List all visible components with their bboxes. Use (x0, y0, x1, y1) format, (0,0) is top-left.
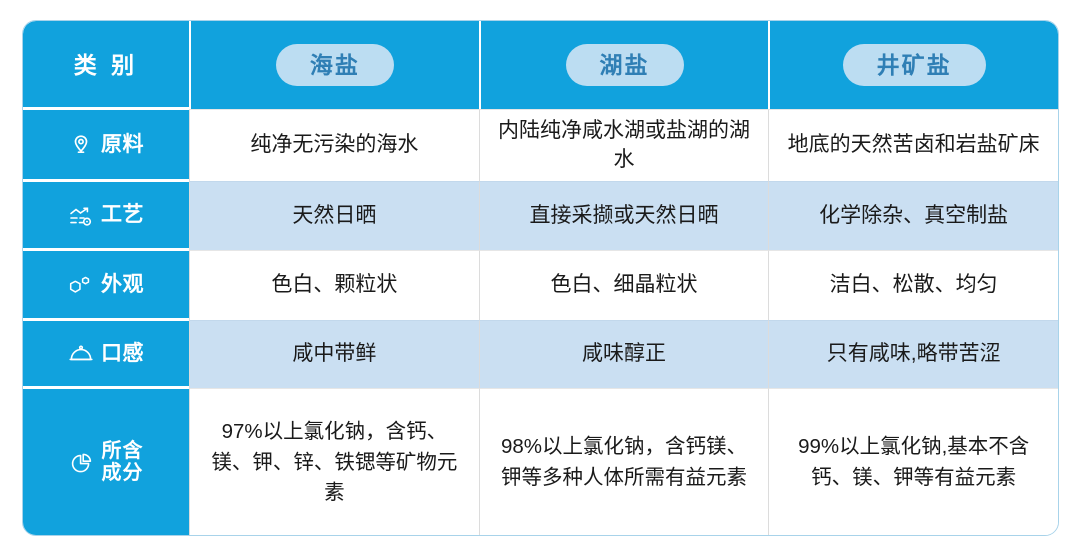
cell-process-lake: 直接采撷或天然日晒 (479, 181, 769, 250)
row-label-text-appearance: 外观 (101, 274, 144, 296)
cell-appearance-sea: 色白、颗粒状 (189, 250, 479, 320)
row-label-appearance: 外观 (23, 250, 189, 320)
cell-taste-well: 只有咸味,略带苦涩 (768, 320, 1058, 388)
row-label-process: 工艺 (23, 181, 189, 250)
header-pill-sea-salt: 海盐 (276, 44, 394, 86)
table-row-raw-material: 原料 纯净无污染的海水 内陆纯净咸水湖或盐湖的湖水 地底的天然苦卤和岩盐矿床 (23, 109, 1058, 181)
row-label-raw-material: 原料 (23, 109, 189, 181)
cell-taste-lake: 咸味醇正 (479, 320, 769, 388)
header-col-1: 海盐 (189, 21, 479, 109)
cell-taste-sea: 咸中带鲜 (189, 320, 479, 388)
pie-chart-icon (69, 450, 95, 476)
row-label-taste: 口感 (23, 320, 189, 388)
header-col-2: 湖盐 (479, 21, 769, 109)
table-body: 类 别 海盐 湖盐 井矿盐 原料 (23, 21, 1058, 535)
table-row-appearance: 外观 色白、颗粒状 色白、细晶粒状 洁白、松散、均匀 (23, 250, 1058, 320)
header-pill-lake-salt: 湖盐 (566, 44, 684, 86)
comparison-table: 类 别 海盐 湖盐 井矿盐 原料 (22, 20, 1059, 536)
header-category-text: 类 别 (74, 53, 138, 77)
cell-composition-sea: 97%以上氯化钠，含钙、镁、钾、锌、铁锶等矿物元素 (189, 388, 479, 536)
row-label-composition: 所含 成分 (23, 388, 189, 536)
cell-raw-material-lake: 内陆纯净咸水湖或盐湖的湖水 (479, 109, 769, 181)
table-header-row: 类 别 海盐 湖盐 井矿盐 (23, 21, 1058, 109)
crystal-hexagon-icon (68, 272, 94, 298)
cell-appearance-lake: 色白、细晶粒状 (479, 250, 769, 320)
food-dome-icon (68, 341, 94, 367)
cell-raw-material-sea: 纯净无污染的海水 (189, 109, 479, 181)
table-row-taste: 口感 咸中带鲜 咸味醇正 只有咸味,略带苦涩 (23, 320, 1058, 388)
row-label-text-raw-material: 原料 (101, 134, 144, 156)
cell-process-well: 化学除杂、真空制盐 (768, 181, 1058, 250)
row-label-text-taste: 口感 (101, 343, 144, 365)
table-row-process: 工艺 天然日晒 直接采撷或天然日晒 化学除杂、真空制盐 (23, 181, 1058, 250)
cell-process-sea: 天然日晒 (189, 181, 479, 250)
row-label-text-composition: 所含 成分 (102, 441, 144, 483)
header-category-label: 类 别 (23, 21, 189, 109)
cell-composition-lake: 98%以上氯化钠，含钙镁、钾等多种人体所需有益元素 (479, 388, 769, 536)
location-pin-icon (68, 132, 94, 158)
cell-composition-well: 99%以上氯化钠,基本不含钙、镁、钾等有益元素 (768, 388, 1058, 536)
cell-appearance-well: 洁白、松散、均匀 (768, 250, 1058, 320)
table-row-composition: 所含 成分 97%以上氯化钠，含钙、镁、钾、锌、铁锶等矿物元素 98%以上氯化钠… (23, 388, 1058, 536)
header-pill-well-mine-salt: 井矿盐 (843, 44, 986, 86)
row-label-text-process: 工艺 (101, 204, 144, 226)
cell-raw-material-well: 地底的天然苦卤和岩盐矿床 (768, 109, 1058, 181)
header-col-3: 井矿盐 (768, 21, 1058, 109)
process-chart-gear-icon (68, 203, 94, 229)
